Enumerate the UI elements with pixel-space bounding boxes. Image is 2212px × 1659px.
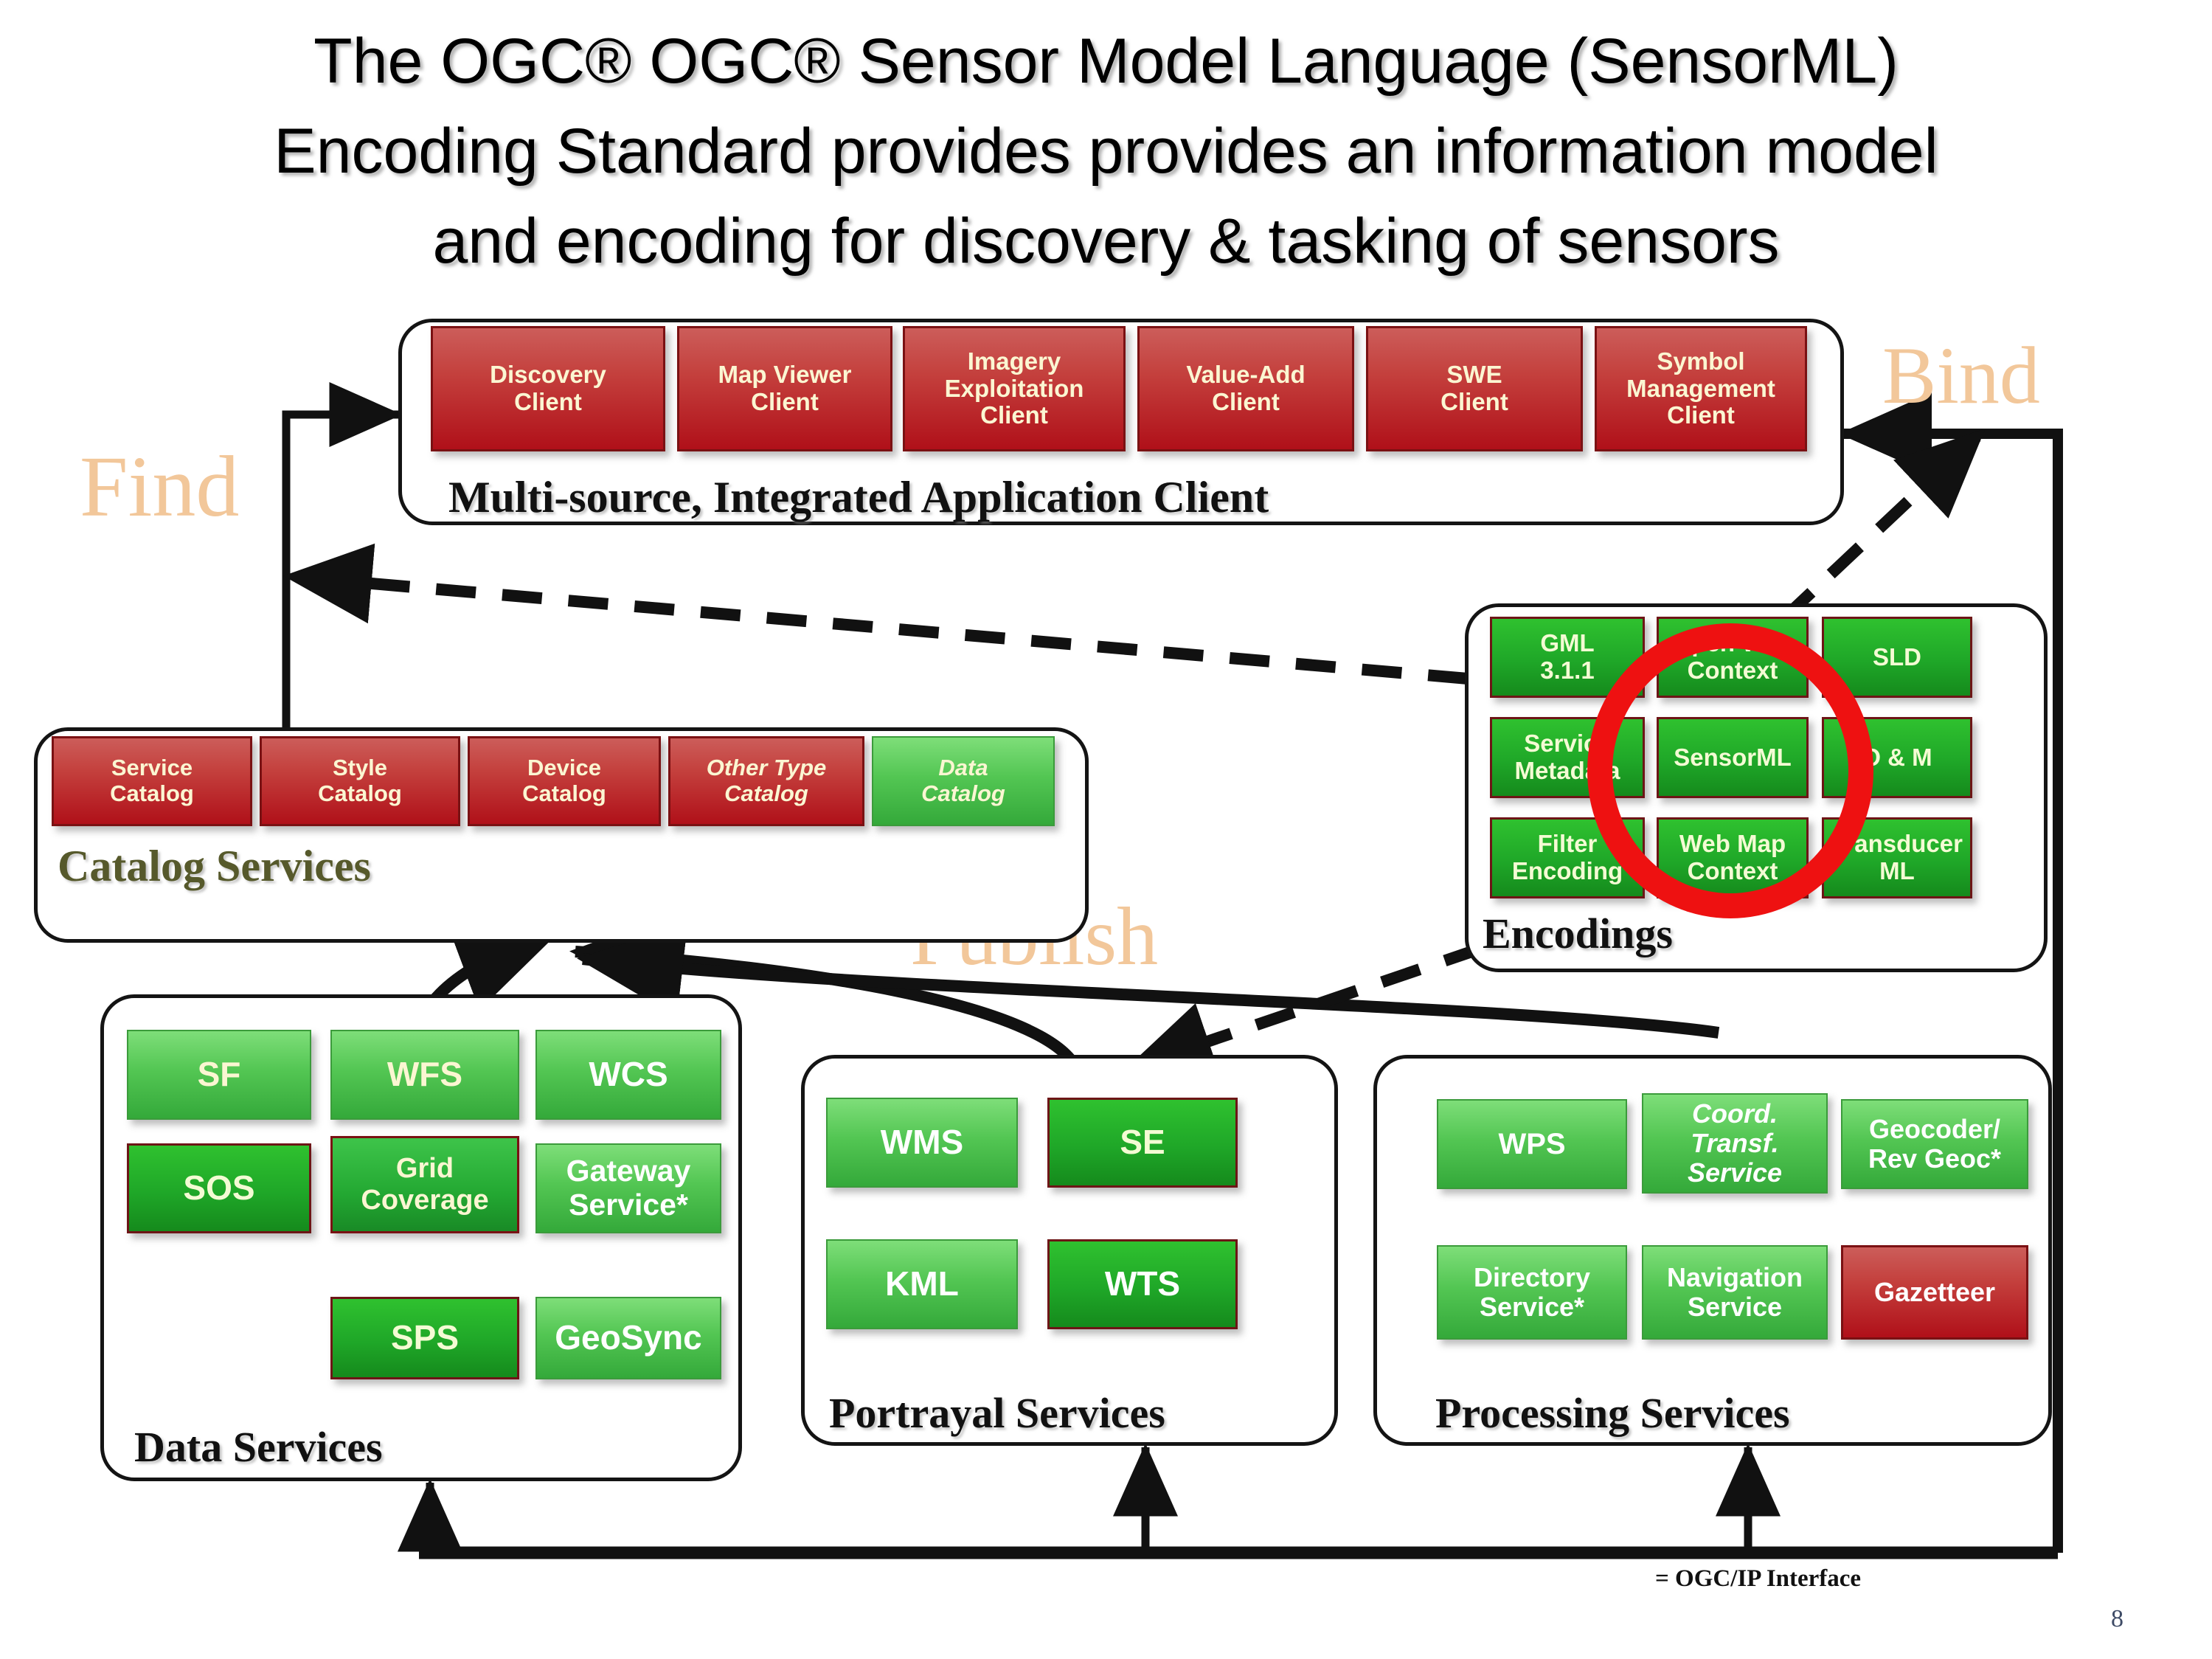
- tile-imagery-exploitation-client[interactable]: Imagery Exploitation Client: [903, 326, 1126, 451]
- tile-kml[interactable]: KML: [826, 1239, 1018, 1329]
- group-title-application-client: Multi-source, Integrated Application Cli…: [448, 472, 1269, 523]
- tile-swe-client[interactable]: SWE Client: [1366, 326, 1583, 451]
- tile-gazetteer[interactable]: Gazetteer: [1841, 1245, 2028, 1340]
- page-number: 8: [2111, 1605, 2123, 1633]
- group-title-portrayal-services: Portrayal Services: [829, 1388, 1165, 1438]
- tile-sld[interactable]: SLD: [1822, 617, 1972, 698]
- group-title-catalog-services: Catalog Services: [58, 841, 371, 892]
- tile-sps[interactable]: SPS: [330, 1297, 519, 1379]
- verb-bind: Bind: [1882, 329, 2040, 423]
- tile-device-catalog[interactable]: Device Catalog: [468, 736, 661, 826]
- tile-service-catalog[interactable]: Service Catalog: [52, 736, 252, 826]
- tile-other-type-catalog[interactable]: Other Type Catalog: [668, 736, 864, 826]
- group-title-data-services: Data Services: [134, 1422, 383, 1472]
- tile-map-viewer-client[interactable]: Map Viewer Client: [677, 326, 892, 451]
- tile-wts[interactable]: WTS: [1047, 1239, 1238, 1329]
- tile-web-map-context[interactable]: Web Map Context: [1657, 817, 1809, 898]
- ogcip-interface-legend: = OGC/IP Interface: [1655, 1565, 1861, 1593]
- tile-wfs[interactable]: WFS: [330, 1030, 519, 1120]
- tile-se[interactable]: SE: [1047, 1098, 1238, 1188]
- tile-coord-transf-service[interactable]: Coord. Transf. Service: [1642, 1093, 1828, 1194]
- tile-directory-service[interactable]: Directory Service*: [1437, 1245, 1627, 1340]
- group-title-processing-services: Processing Services: [1435, 1388, 1790, 1438]
- tile-discovery-client[interactable]: Discovery Client: [431, 326, 665, 451]
- find-dashed-return: [295, 577, 1468, 679]
- tile-o-and-m[interactable]: O & M: [1822, 717, 1972, 798]
- verb-find: Find: [80, 437, 239, 537]
- tile-open-web-context[interactable]: Open Web Context: [1657, 617, 1809, 698]
- tile-sf[interactable]: SF: [127, 1030, 311, 1120]
- tile-style-catalog[interactable]: Style Catalog: [260, 736, 460, 826]
- tile-value-add-client[interactable]: Value-Add Client: [1137, 326, 1354, 451]
- tile-wps[interactable]: WPS: [1437, 1099, 1627, 1189]
- tile-gateway-service[interactable]: Gateway Service*: [535, 1143, 721, 1233]
- tile-filter-encoding[interactable]: Filter Encoding: [1490, 817, 1645, 898]
- group-title-encodings: Encodings: [1483, 909, 1673, 958]
- tile-wcs[interactable]: WCS: [535, 1030, 721, 1120]
- tile-geocoder-rev-geoc[interactable]: Geocoder/ Rev Geoc*: [1841, 1099, 2028, 1189]
- tile-service-metadata[interactable]: Service Metadata: [1490, 717, 1645, 798]
- tile-grid-coverage[interactable]: Grid Coverage: [330, 1136, 519, 1233]
- tile-transducer-ml[interactable]: Transducer ML: [1822, 817, 1972, 898]
- tile-geosync[interactable]: GeoSync: [535, 1297, 721, 1379]
- tile-wms[interactable]: WMS: [826, 1098, 1018, 1188]
- tile-navigation-service[interactable]: Navigation Service: [1642, 1245, 1828, 1340]
- tile-data-catalog[interactable]: Data Catalog: [872, 736, 1055, 826]
- tile-sos[interactable]: SOS: [127, 1143, 311, 1233]
- tile-symbol-management-client[interactable]: Symbol Management Client: [1595, 326, 1807, 451]
- tile-gml-311[interactable]: GML 3.1.1: [1490, 617, 1645, 698]
- tile-sensorml[interactable]: SensorML: [1657, 717, 1809, 798]
